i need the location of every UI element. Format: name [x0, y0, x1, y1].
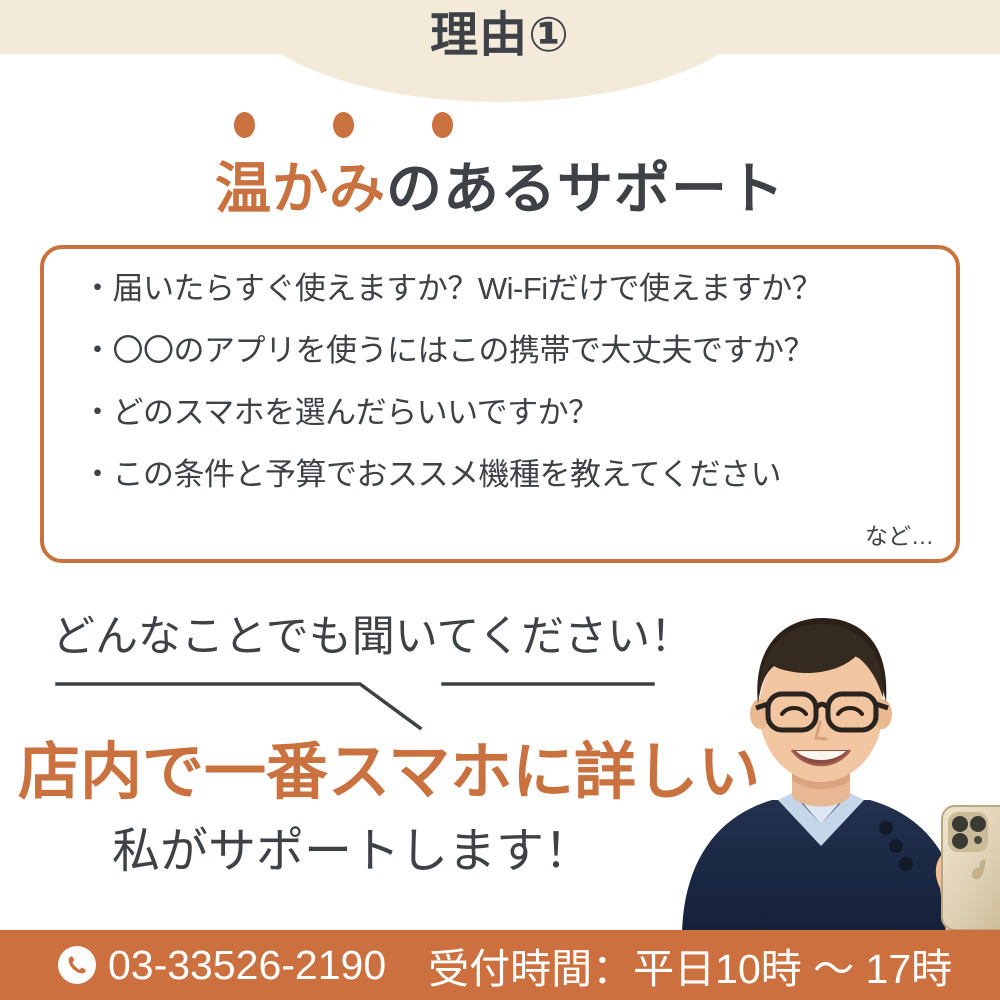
dot-2 [333, 112, 354, 138]
question-list: ・届いたらすぐ使えますか？Wi-Fiだけで使えますか？ ・〇〇のアプリを使うには… [82, 273, 936, 490]
dot-1 [234, 112, 255, 138]
staff-photo [640, 588, 1000, 933]
dot-3 [432, 112, 453, 138]
list-item: ・〇〇のアプリを使うにはこの携帯で大丈夫ですか？ [82, 335, 936, 366]
main-claim-subheadline: 私がサポートします！ [112, 827, 592, 877]
list-item: ・届いたらすぐ使えますか？Wi-Fiだけで使えますか？ [82, 273, 936, 304]
page-title: 温かみのあるサポート [0, 144, 1000, 225]
decorative-dots [234, 112, 453, 138]
contact-footer-bar: 03-33526-2190 受付時間：平日10時 〜 17時 [0, 930, 1000, 1000]
question-list-box: ・届いたらすぐ使えますか？Wi-Fiだけで使えますか？ ・〇〇のアプリを使うには… [40, 245, 960, 563]
business-hours: 受付時間：平日10時 〜 17時 [428, 935, 952, 995]
speech-callout-text: どんなことでも聞いてください！ [52, 602, 693, 664]
speech-underline-with-tail [55, 676, 655, 736]
reason-badge-label: 理由① [0, 10, 1000, 63]
promo-graphic: 理由① 温かみのあるサポート ・届いたらすぐ使えますか？Wi-Fiだけで使えます… [0, 0, 1000, 1000]
page-title-rest: のあるサポート [386, 157, 785, 220]
phone-number[interactable]: 03-33526-2190 [108, 942, 386, 989]
list-item: ・この条件と予算でおススメ機種を教えてください [82, 459, 936, 490]
phone-icon [58, 946, 96, 984]
page-title-highlight: 温かみ [215, 157, 386, 220]
list-item: ・どのスマホを選んだらいいですか？ [82, 397, 936, 428]
list-etc-note: など… [865, 517, 934, 551]
